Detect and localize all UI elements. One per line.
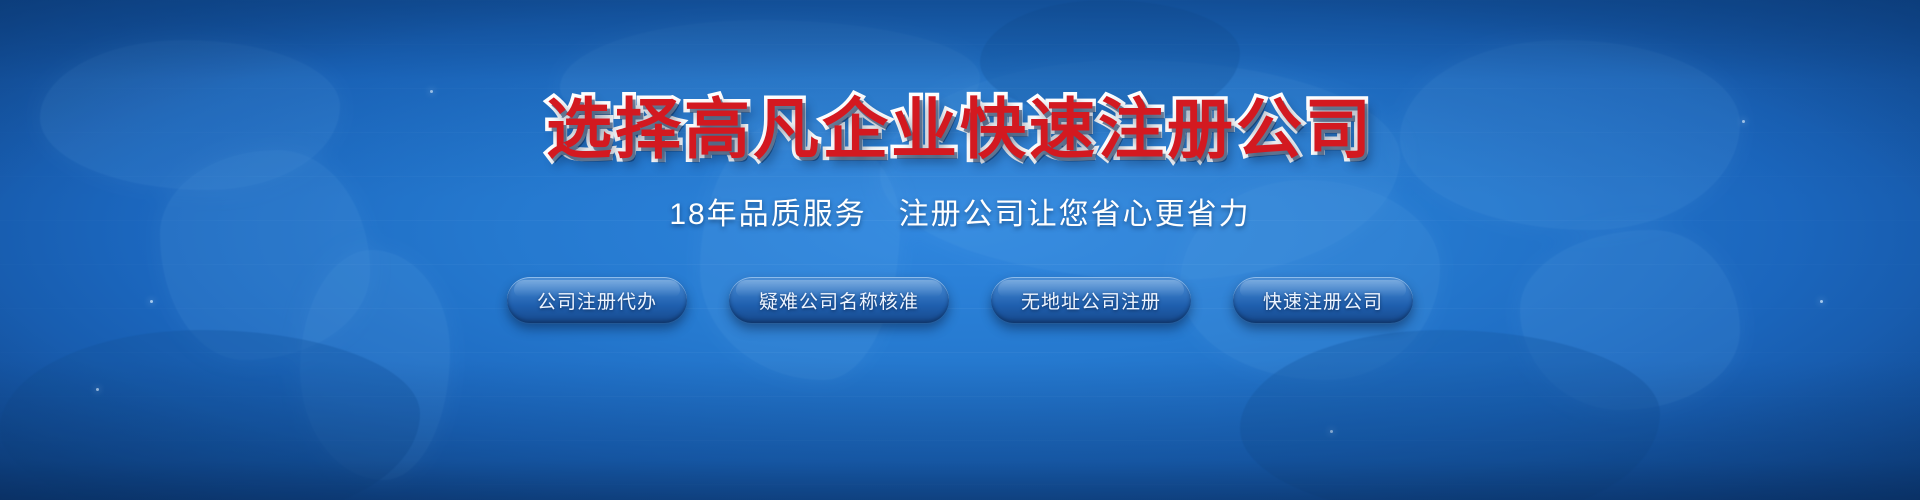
promo-banner: 选择高凡企业快速注册公司 18年品质服务 注册公司让您省心更省力 公司注册代办 …: [0, 0, 1920, 500]
banner-content: 选择高凡企业快速注册公司 18年品质服务 注册公司让您省心更省力 公司注册代办 …: [0, 0, 1920, 500]
cta-button-difficult-name-approval[interactable]: 疑难公司名称核准: [729, 277, 949, 323]
cta-button-row: 公司注册代办 疑难公司名称核准 无地址公司注册 快速注册公司: [507, 277, 1413, 323]
cta-button-no-address-registration[interactable]: 无地址公司注册: [991, 277, 1191, 323]
subtitle-text: 18年品质服务 注册公司让您省心更省力: [669, 189, 1250, 233]
cta-button-fast-registration[interactable]: 快速注册公司: [1233, 277, 1413, 323]
cta-button-company-registration-agency[interactable]: 公司注册代办: [507, 277, 687, 323]
headline-text: 选择高凡企业快速注册公司: [546, 96, 1374, 162]
